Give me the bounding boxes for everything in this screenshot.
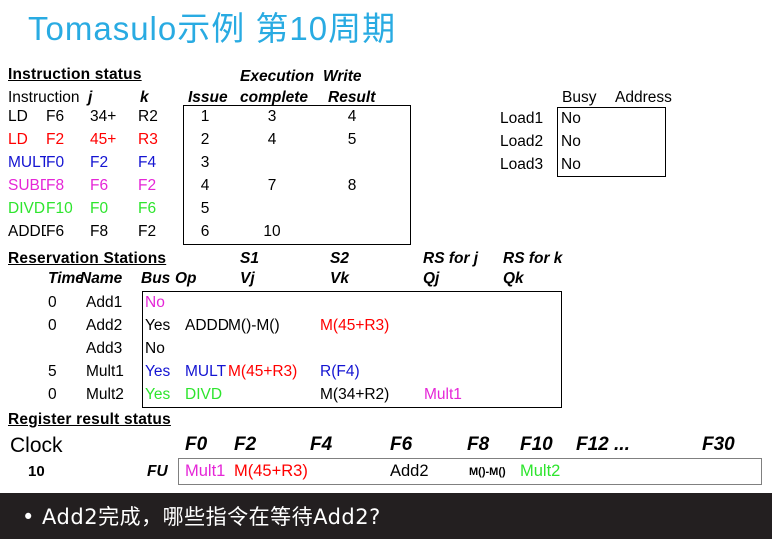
rs-name: Mult2 — [86, 386, 124, 404]
fu-label: FU — [147, 463, 168, 481]
instruction-issue: 2 — [188, 131, 222, 149]
register-header-f2: F2 — [234, 434, 256, 456]
instruction-op: LD — [8, 108, 46, 126]
rs-name: Add2 — [86, 317, 122, 335]
rs-qj: Mult1 — [424, 386, 462, 404]
register-header-f0: F0 — [185, 434, 207, 456]
instruction-op: LD — [8, 131, 46, 149]
instruction-status-label: Instruction status — [8, 66, 142, 84]
rs-header-rs-for-j: RS for j — [423, 250, 478, 268]
load-buffer-header-address: Address — [615, 89, 672, 107]
clock-value: 10 — [28, 463, 45, 480]
load-buffer-name: Load3 — [500, 156, 543, 174]
rs-busy: No — [145, 294, 165, 312]
rs-time: 5 — [48, 363, 82, 381]
rs-time: 0 — [48, 317, 82, 335]
register-value-f0: Mult1 — [185, 462, 225, 481]
register-value-f6: Add2 — [390, 462, 429, 481]
instruction-op: SUBD — [8, 177, 46, 195]
instruction-j: F0 — [90, 200, 108, 218]
instruction-j: F6 — [90, 177, 108, 195]
instruction-issue: 5 — [188, 200, 222, 218]
instruction-status-header-write: Write — [323, 68, 361, 86]
load-buffer-busy: No — [561, 110, 581, 128]
rs-name: Mult1 — [86, 363, 124, 381]
rs-vk: R(F4) — [320, 363, 360, 381]
instruction-issue: 1 — [188, 108, 222, 126]
register-header-f8: F8 — [467, 434, 489, 456]
rs-header-vk: Vk — [330, 270, 349, 288]
rs-time: 0 — [48, 294, 82, 312]
register-header-f6: F6 — [390, 434, 412, 456]
rs-header-qk: Qk — [503, 270, 524, 288]
rs-header-busy: Bus — [141, 270, 171, 288]
instruction-k: F2 — [138, 177, 156, 195]
register-header-f4: F4 — [310, 434, 332, 456]
rs-busy: Yes — [145, 317, 170, 335]
instruction-dest: F8 — [46, 177, 88, 195]
register-header-f10: F10 — [520, 434, 553, 456]
rs-header-name: Name — [80, 270, 122, 288]
instruction-issue: 4 — [188, 177, 222, 195]
rs-vj: M(45+R3) — [228, 363, 297, 381]
rs-header-s1: S1 — [240, 250, 259, 268]
rs-op: MULT — [185, 363, 229, 381]
instruction-op: DIVD — [8, 200, 46, 218]
rs-busy: Yes — [145, 386, 170, 404]
instruction-op: ADDD — [8, 223, 46, 241]
instruction-dest: F2 — [46, 131, 88, 149]
rs-name: Add1 — [86, 294, 122, 312]
instruction-result: 8 — [330, 177, 374, 195]
instruction-dest: F6 — [46, 223, 88, 241]
instruction-k: F6 — [138, 200, 156, 218]
instruction-j: F8 — [90, 223, 108, 241]
register-header-f30: F30 — [702, 434, 735, 456]
load-buffer-name: Load1 — [500, 110, 543, 128]
instruction-result: 5 — [330, 131, 374, 149]
rs-header-time: Time — [48, 270, 82, 288]
bottom-note-text: • Add2完成，哪些指令在等待Add2? — [22, 501, 381, 531]
instruction-complete: 10 — [250, 223, 294, 241]
instruction-dest: F0 — [46, 154, 88, 172]
rs-name: Add3 — [86, 340, 122, 358]
rs-header-s2: S2 — [330, 250, 349, 268]
instruction-j: 45+ — [90, 131, 116, 149]
rs-busy: No — [145, 340, 165, 358]
instruction-j: 34+ — [90, 108, 116, 126]
rs-vk: M(34+R2) — [320, 386, 389, 404]
rs-op: ADDD — [185, 317, 229, 335]
instruction-complete: 4 — [250, 131, 294, 149]
instruction-issue: 6 — [188, 223, 222, 241]
instruction-dest: F10 — [46, 200, 88, 218]
load-buffer-busy: No — [561, 156, 581, 174]
slide-title: Tomasulo示例 第10周期 — [28, 2, 396, 50]
rs-vk: M(45+R3) — [320, 317, 389, 335]
register-value-f2: M(45+R3) — [234, 462, 308, 481]
rs-header-op: Op — [175, 270, 197, 288]
load-buffer-busy: No — [561, 133, 581, 151]
load-buffer-name: Load2 — [500, 133, 543, 151]
rs-header-rs-for-k: RS for k — [503, 250, 562, 268]
rs-busy: Yes — [145, 363, 170, 381]
instruction-j: F2 — [90, 154, 108, 172]
instruction-complete: 3 — [250, 108, 294, 126]
instruction-k: R2 — [138, 108, 158, 126]
register-value-f8: M()-M() — [469, 466, 506, 478]
clock-label: Clock — [10, 434, 63, 458]
rs-op: DIVD — [185, 386, 229, 404]
instruction-status-header-j: j — [88, 89, 92, 107]
instruction-dest: F6 — [46, 108, 88, 126]
register-header-f12: F12 ... — [576, 434, 630, 456]
instruction-k: F4 — [138, 154, 156, 172]
instruction-op: MULT — [8, 154, 46, 172]
rs-header-vj: Vj — [240, 270, 255, 288]
register-result-status-label: Register result status — [8, 411, 171, 429]
load-buffer-header-busy: Busy — [562, 89, 596, 107]
rs-vj: M()-M() — [228, 317, 280, 335]
instruction-k: F2 — [138, 223, 156, 241]
instruction-status-header-execution: Execution — [240, 68, 314, 86]
instruction-k: R3 — [138, 131, 158, 149]
instruction-complete: 7 — [250, 177, 294, 195]
rs-time: 0 — [48, 386, 82, 404]
instruction-issue: 3 — [188, 154, 222, 172]
instruction-status-header-instruction: Instruction — [8, 89, 82, 107]
instruction-status-header-k: k — [140, 89, 149, 107]
reservation-stations-label: Reservation Stations — [8, 250, 166, 268]
register-value-f10: Mult2 — [520, 462, 560, 481]
instruction-result: 4 — [330, 108, 374, 126]
rs-header-qj: Qj — [423, 270, 439, 288]
